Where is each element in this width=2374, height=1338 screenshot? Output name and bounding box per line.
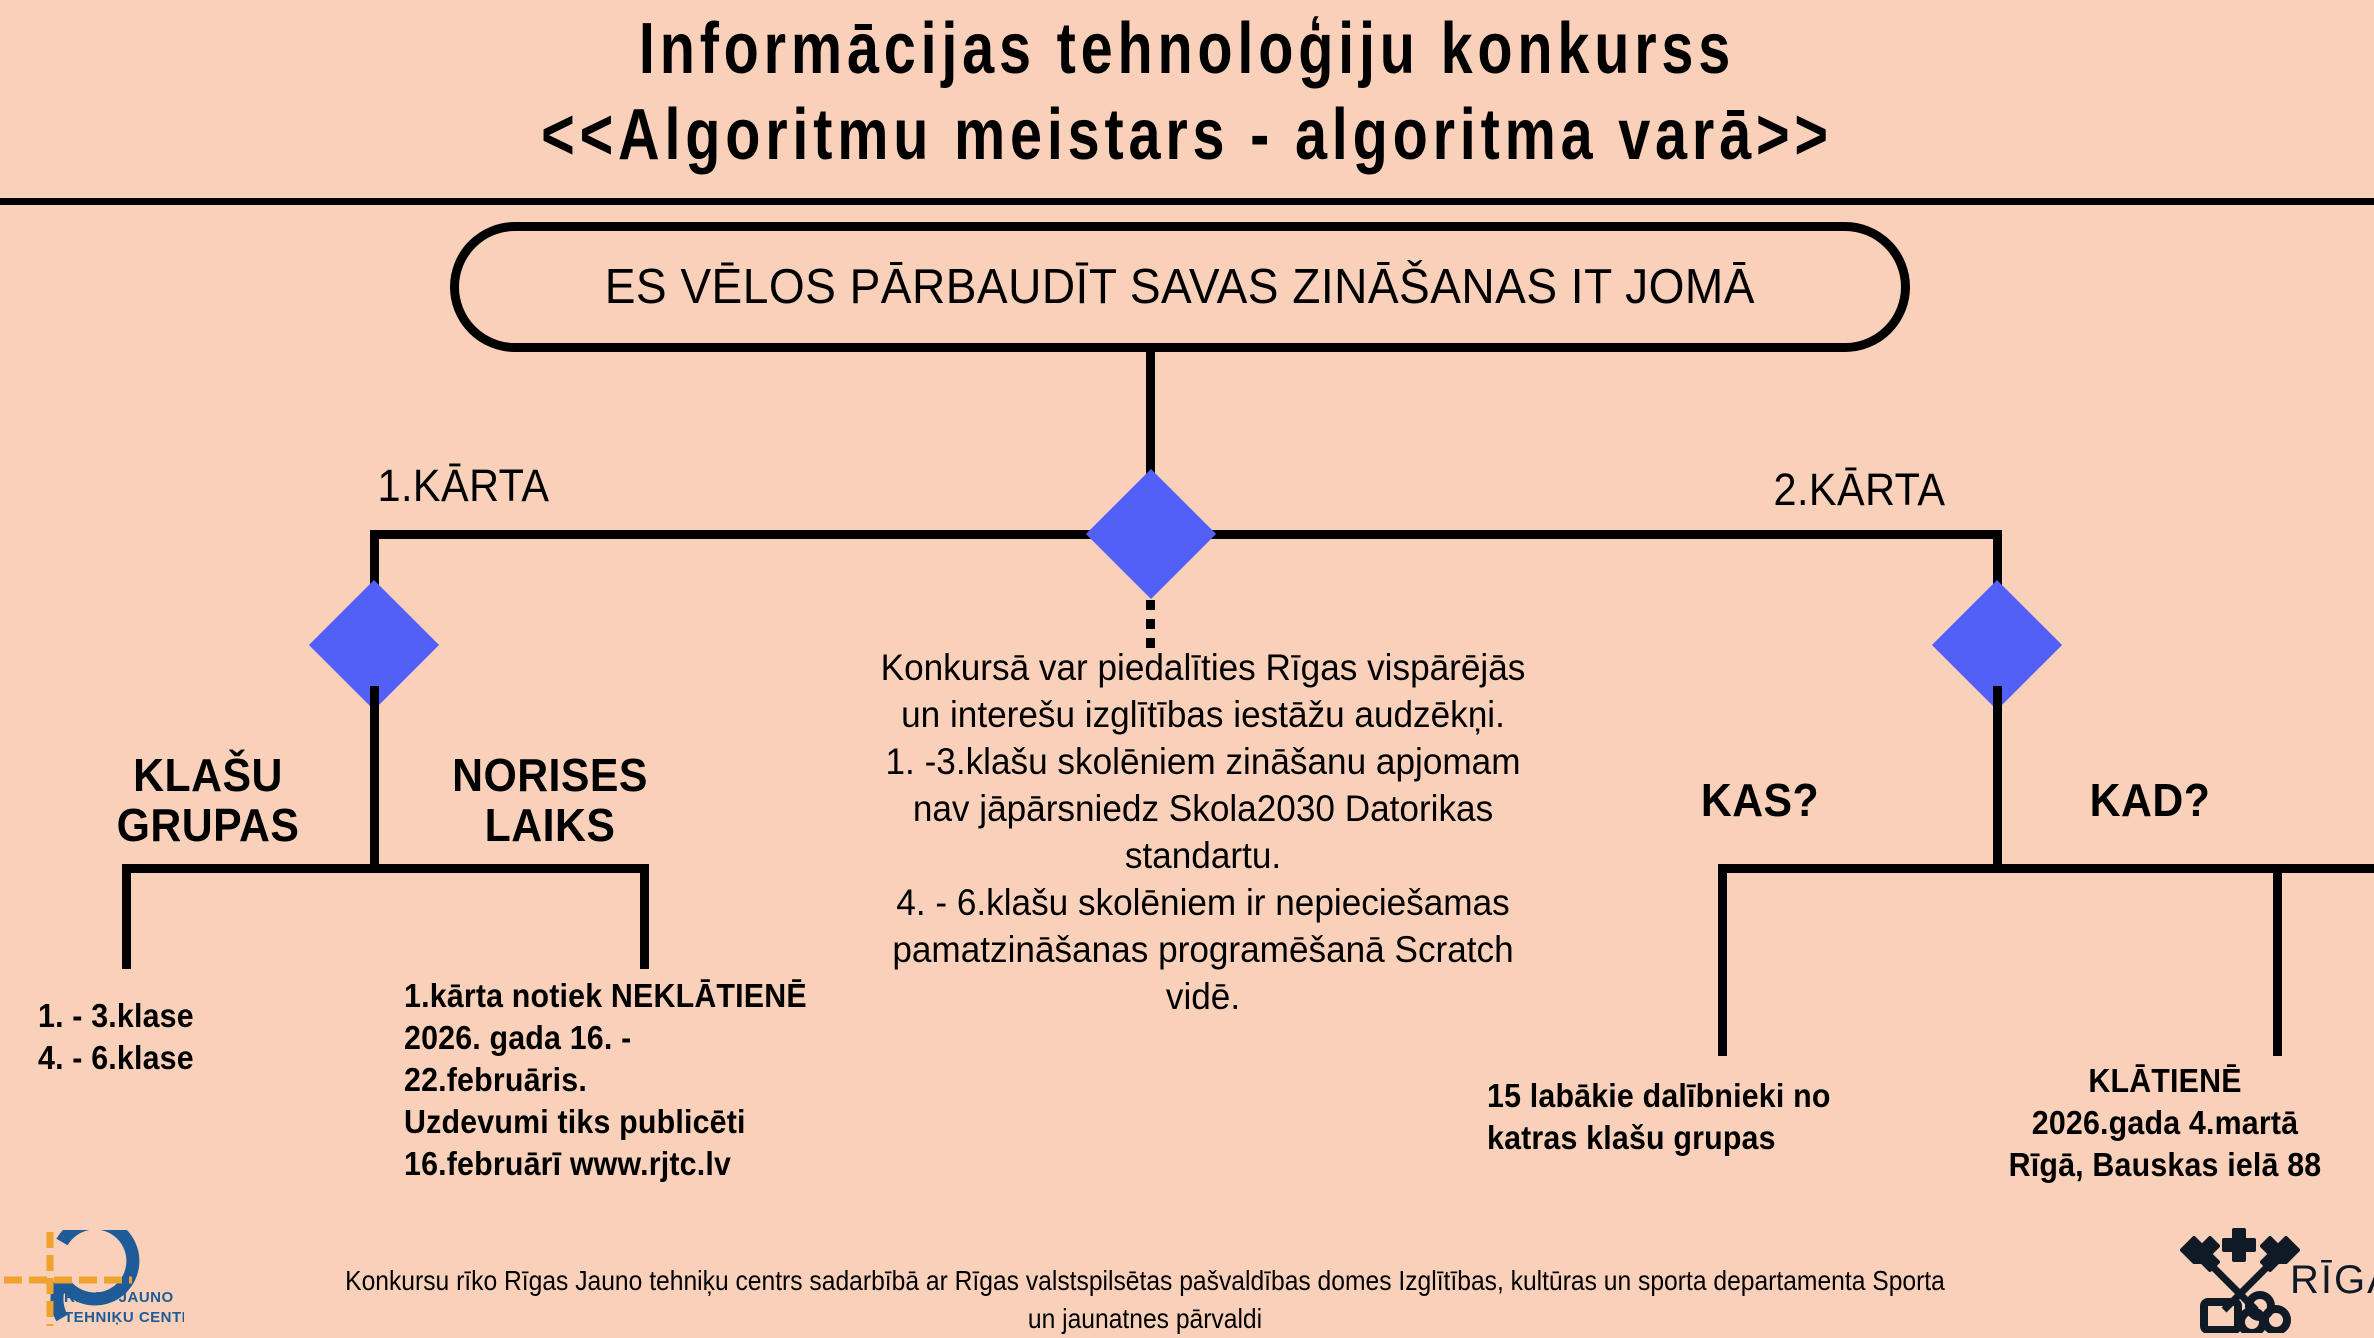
round-1-split-bar (122, 864, 649, 873)
leaf-when-text: KLĀTIENĒ 2026.gada 4.martā Rīgā, Bauskas… (1972, 1060, 2358, 1186)
round-2-leaf-b-line (2273, 864, 2282, 1056)
node-who-label: KAS? (1621, 775, 1900, 825)
round-1-leaf-a-line (122, 864, 131, 969)
svg-text:RĪGAS JAUNO: RĪGAS JAUNO (64, 1289, 174, 1306)
round-1-post-diamond-line (370, 686, 379, 866)
leaf-class-groups-text: 1. - 3.klase 4. - 6.klase (38, 995, 342, 1079)
round-2-label: 2.KĀRTA (1773, 464, 1945, 516)
poster-title: Informācijas tehnoloģiju konkurss <<Algo… (0, 6, 2374, 178)
riga-wordmark: RĪGA (2290, 1258, 2374, 1303)
title-line-1: Informācijas tehnoloģiju konkurss (237, 6, 2136, 92)
node-event-time-label: NORISES LAIKS (411, 750, 690, 850)
leaf-event-time-text: 1.kārta notiek NEKLĀTIENĒ 2026. gada 16.… (404, 975, 882, 1185)
node-class-groups-label: KLAŠU GRUPAS (69, 750, 348, 850)
center-decision-diamond (1086, 469, 1216, 599)
round-2-leaf-a-line (1718, 864, 1727, 1056)
round-1-leaf-b-line (640, 864, 649, 969)
round-1-label: 1.KĀRTA (377, 460, 549, 512)
start-node-label: ES VĒLOS PĀRBAUDĪT SAVAS ZINĀŠANAS IT JO… (605, 259, 1755, 315)
title-line-2: <<Algoritmu meistars - algoritma varā>> (237, 92, 2136, 178)
leaf-who-text: 15 labākie dalībnieki no katras klašu gr… (1487, 1075, 1883, 1159)
footer-organizer-text: Konkursu rīko Rīgas Jauno tehniķu centrs… (305, 1262, 1986, 1338)
svg-text:TEHNIĶU CENTRS: TEHNIĶU CENTRS (64, 1309, 184, 1326)
node-when-label: KAD? (2011, 775, 2290, 825)
start-node: ES VĒLOS PĀRBAUDĪT SAVAS ZINĀŠANAS IT JO… (450, 222, 1910, 352)
poster-canvas: Informācijas tehnoloģiju konkurss <<Algo… (0, 0, 2374, 1335)
header-divider (0, 198, 2374, 205)
center-description-text: Konkursā var piedalīties Rīgas vispārējā… (837, 644, 1569, 1020)
rjtc-logo: RĪGAS JAUNO TEHNIĶU CENTRS (2, 1230, 184, 1330)
round-2-post-diamond-line (1993, 686, 2002, 866)
